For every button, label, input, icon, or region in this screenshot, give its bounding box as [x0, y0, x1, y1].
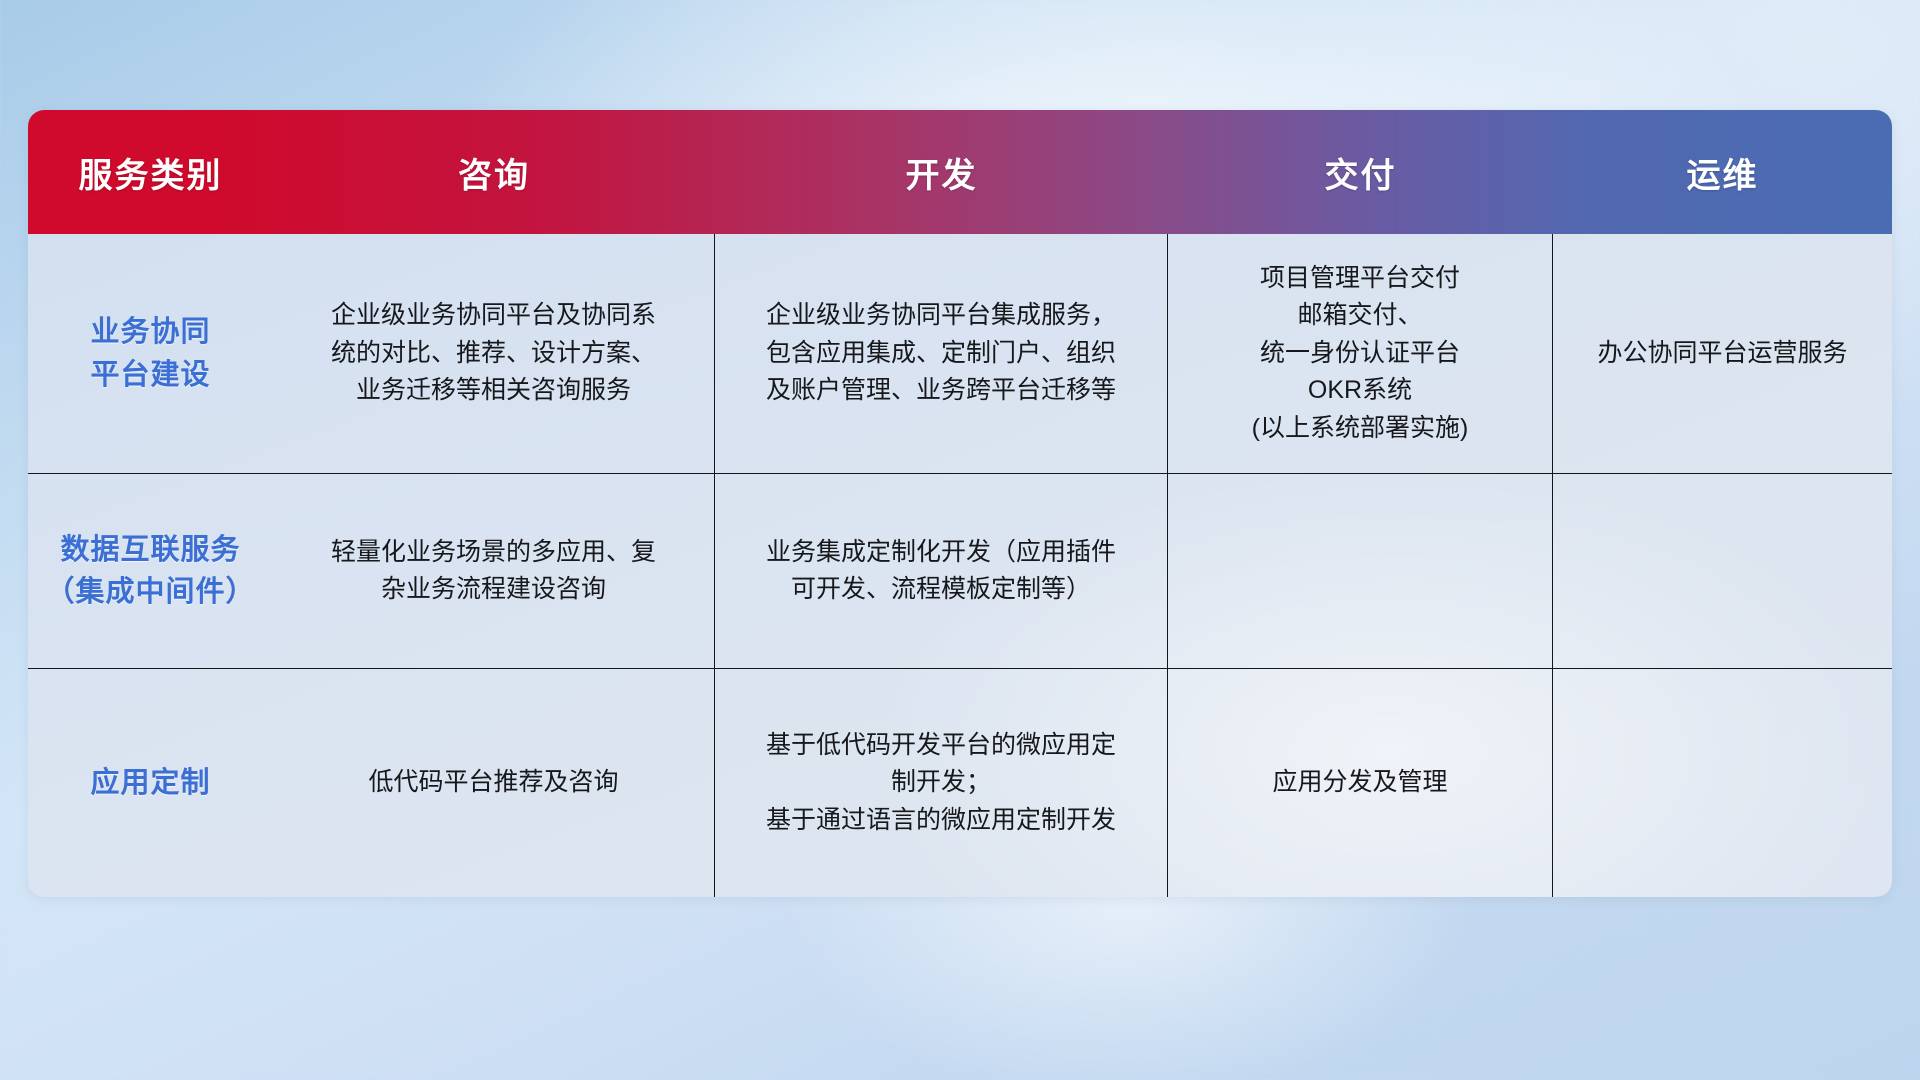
cell-operations: 办公协同平台运营服务 [1553, 234, 1892, 473]
table-row: 应用定制 低代码平台推荐及咨询 基于低代码开发平台的微应用定 制开发； 基于通过… [28, 669, 1892, 897]
table-header-cell-operations: 运维 [1553, 110, 1892, 234]
cell-development: 基于低代码开发平台的微应用定 制开发； 基于通过语言的微应用定制开发 [715, 669, 1168, 897]
cell-consulting: 低代码平台推荐及咨询 [273, 669, 715, 897]
row-category-label: 业务协同 平台建设 [28, 234, 273, 473]
table-row: 数据互联服务 （集成中间件） 轻量化业务场景的多应用、复 杂业务流程建设咨询 业… [28, 474, 1892, 669]
cell-delivery [1168, 474, 1553, 668]
table-body: 业务协同 平台建设 企业级业务协同平台及协同系 统的对比、推荐、设计方案、 业务… [28, 234, 1892, 897]
table-header-cell-development: 开发 [715, 110, 1168, 234]
row-category-label: 应用定制 [28, 669, 273, 897]
cell-development: 企业级业务协同平台集成服务， 包含应用集成、定制门户、组织 及账户管理、业务跨平… [715, 234, 1168, 473]
table-header-row: 服务类别 咨询 开发 交付 运维 [28, 110, 1892, 234]
row-category-label: 数据互联服务 （集成中间件） [28, 474, 273, 668]
table-row: 业务协同 平台建设 企业级业务协同平台及协同系 统的对比、推荐、设计方案、 业务… [28, 234, 1892, 474]
cell-delivery: 项目管理平台交付 邮箱交付、 统一身份认证平台 OKR系统 (以上系统部署实施) [1168, 234, 1553, 473]
cell-consulting: 轻量化业务场景的多应用、复 杂业务流程建设咨询 [273, 474, 715, 668]
table-header-cell-delivery: 交付 [1168, 110, 1553, 234]
cell-development: 业务集成定制化开发（应用插件 可开发、流程模板定制等） [715, 474, 1168, 668]
cell-consulting: 企业级业务协同平台及协同系 统的对比、推荐、设计方案、 业务迁移等相关咨询服务 [273, 234, 715, 473]
table-header-cell-service-category: 服务类别 [28, 110, 273, 234]
cell-operations [1553, 669, 1892, 897]
table-header-cell-consulting: 咨询 [273, 110, 715, 234]
cell-operations [1553, 474, 1892, 668]
service-matrix-table: 服务类别 咨询 开发 交付 运维 业务协同 平台建设 企业级业务协同平台及协同系… [28, 110, 1892, 897]
cell-delivery: 应用分发及管理 [1168, 669, 1553, 897]
